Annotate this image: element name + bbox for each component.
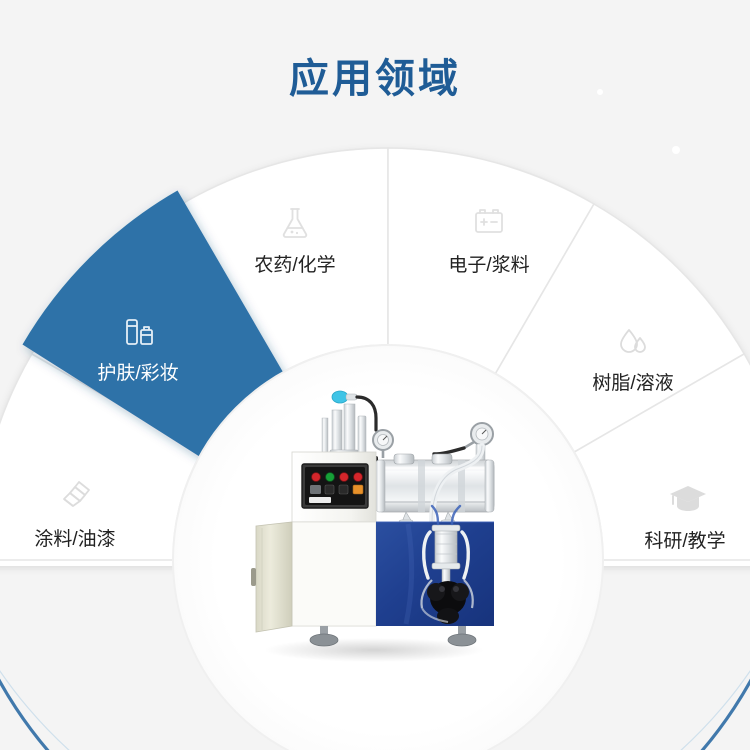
indicator-lamp-1 — [312, 473, 321, 482]
push-button-1 — [310, 485, 321, 494]
indicator-lamp-2 — [326, 473, 335, 482]
emergency-button — [353, 485, 363, 494]
side-access-panel — [251, 522, 292, 632]
machine-feed-assembly — [322, 391, 376, 458]
indicator-lamp-3 — [340, 473, 349, 482]
bead-mill-machine-image — [236, 382, 508, 664]
cyan-valve-handle — [332, 391, 348, 403]
indicator-lamp-4 — [354, 473, 363, 482]
decorative-dot-b — [672, 146, 680, 154]
push-button-2 — [325, 485, 334, 494]
poster-stage: 应用领域 — [0, 0, 750, 750]
panel-handle — [251, 568, 256, 586]
panel-readout — [309, 497, 331, 503]
page-title: 应用领域 — [0, 46, 750, 104]
control-panel[interactable] — [302, 464, 368, 508]
push-button-3 — [339, 485, 348, 494]
